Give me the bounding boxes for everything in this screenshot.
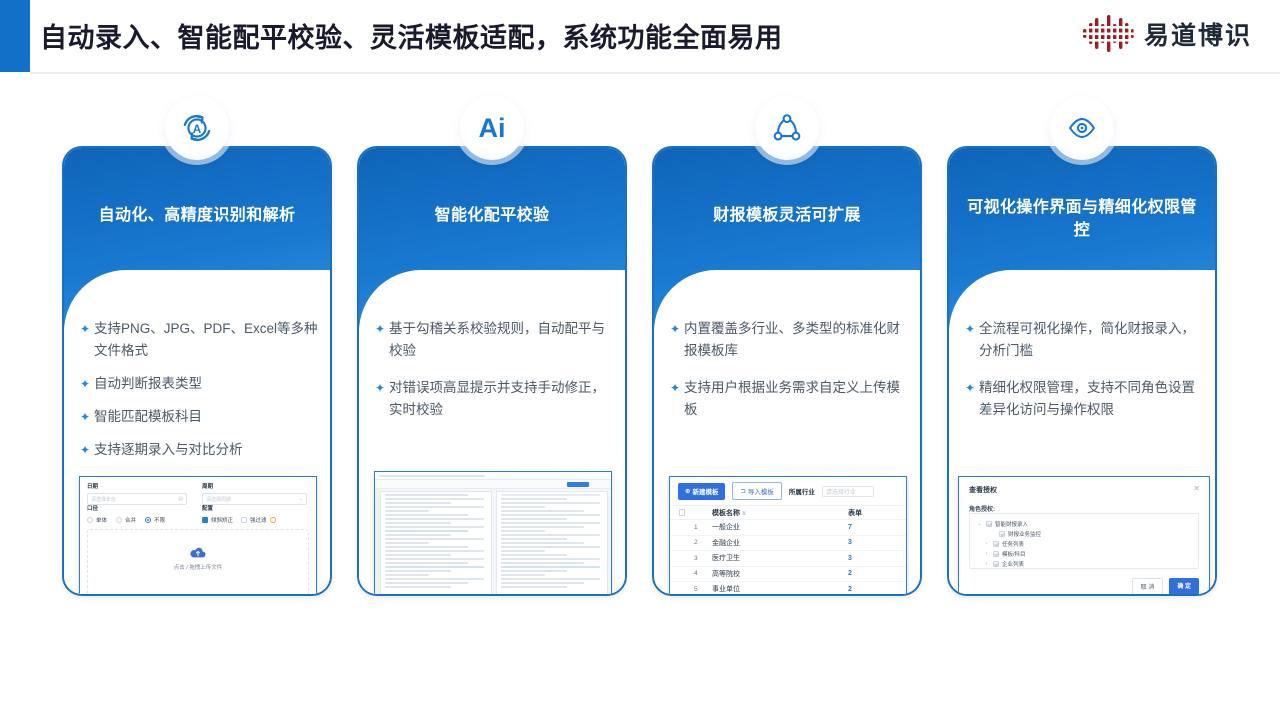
bullet-diamond-icon: ✦ xyxy=(670,318,684,340)
date-field-label: 日期 xyxy=(87,482,187,490)
template-table-screenshot[interactable]: ⊕ 新建模板 ⊐ 导入模板 所属行业 请选择行业 xyxy=(669,476,907,594)
list-item: ✦ 支持逐期录入与对比分析 xyxy=(80,439,318,461)
header-accent-bar xyxy=(0,0,30,72)
column-header-name[interactable]: 模板名称 ⇅ xyxy=(712,508,848,518)
caliber-label: 口径 xyxy=(87,504,165,512)
bullet-diamond-icon: ✦ xyxy=(965,318,979,340)
radio-single-label: 单体 xyxy=(96,516,107,524)
card-body: ✦ 基于勾稽关系校验规则，自动配平与校验 ✦ 对错误项高显提示并支持手动修正，实… xyxy=(359,270,625,594)
bullet-text: 支持逐期录入与对比分析 xyxy=(94,439,243,461)
date-input-placeholder: 请选择年份 xyxy=(91,496,116,503)
column-header-forms: 表单 xyxy=(848,508,906,518)
row-form-count[interactable]: 7 xyxy=(848,524,906,531)
ai-icon: Ai xyxy=(460,96,524,160)
list-item: ✦ 智能匹配模板科目 xyxy=(80,406,318,428)
radio-any[interactable] xyxy=(145,517,151,523)
list-item: ✦ 全流程可视化操作，简化财报录入，分析门槛 xyxy=(965,318,1203,362)
permission-tree[interactable]: ⌄ 智能财报录入 财报业务监控 › xyxy=(969,513,1199,569)
permission-dialog-screenshot[interactable]: 查看授权 ✕ 角色授权: ⌄ 智能财报录入 xyxy=(958,476,1210,594)
bullet-list: ✦ 全流程可视化操作，简化财报录入，分析门槛 ✦ 精细化权限管理，支持不同角色设… xyxy=(965,318,1203,432)
dropzone-label: 点击 / 拖拽上传文件 xyxy=(174,563,223,571)
document-compare-screenshot[interactable] xyxy=(374,471,612,594)
checkbox-strongfilter[interactable] xyxy=(241,517,247,523)
auto-refresh-a-icon: A xyxy=(165,96,229,160)
table-row[interactable]: 2 金融企业 3 xyxy=(670,536,906,552)
bullet-text: 精细化权限管理，支持不同角色设置差异化访问与操作权限 xyxy=(979,377,1203,421)
row-index: 5 xyxy=(694,586,712,593)
confirm-button[interactable]: 确 定 xyxy=(1169,578,1199,594)
chevron-right-icon[interactable]: › xyxy=(983,561,990,567)
tree-checkbox[interactable] xyxy=(986,521,992,527)
radio-merged[interactable] xyxy=(116,517,122,523)
config-label: 配置 xyxy=(202,504,276,512)
file-dropzone[interactable]: 点击 / 拖拽上传文件 xyxy=(87,529,309,594)
select-all-checkbox[interactable] xyxy=(679,509,686,516)
bullet-diamond-icon: ✦ xyxy=(80,406,94,428)
compare-toolbar xyxy=(375,480,611,489)
bullet-list: ✦ 基于勾稽关系校验规则，自动配平与校验 ✦ 对错误项高显提示并支持手动修正，实… xyxy=(375,318,613,432)
warning-icon xyxy=(270,517,276,523)
dialog-actions: 取 消 确 定 xyxy=(1132,578,1199,594)
dialog-title: 查看授权 xyxy=(969,485,997,495)
list-item: ✦ 内置覆盖多行业、多类型的标准化财报模板库 xyxy=(670,318,908,362)
import-icon: ⊐ xyxy=(740,487,745,495)
list-item: ✦ 支持用户根据业务需求自定义上传模板 xyxy=(670,377,908,421)
industry-filter-select[interactable]: 请选择行业 xyxy=(822,486,874,497)
bullet-diamond-icon: ✦ xyxy=(80,373,94,395)
feature-card-balancing[interactable]: 智能化配平校验 ✦ 基于勾稽关系校验规则，自动配平与校验 ✦ 对错误项高显提示并… xyxy=(357,146,627,596)
industry-filter-label: 所属行业 xyxy=(789,486,815,496)
header-divider xyxy=(30,72,1280,74)
cancel-button[interactable]: 取 消 xyxy=(1132,578,1164,594)
bullet-text: 内置覆盖多行业、多类型的标准化财报模板库 xyxy=(684,318,908,362)
checkbox-deskew-label: 倾斜矫正 xyxy=(211,516,233,524)
feature-cards: 自动化、高精度识别和解析 ✦ 支持PNG、JPG、PDF、Excel等多种文件格… xyxy=(0,96,1280,636)
bullet-text: 自动判断报表类型 xyxy=(94,373,202,395)
bullet-text: 全流程可视化操作，简化财报录入，分析门槛 xyxy=(979,318,1203,362)
table-header-row: 模板名称 ⇅ 表单 xyxy=(670,505,906,520)
tree-node-label: 企业列表 xyxy=(1002,560,1024,568)
checkbox-strongfilter-label: 强过滤 xyxy=(250,516,267,524)
row-template-name: 金融企业 xyxy=(712,538,848,548)
table-row[interactable]: 1 一般企业 7 xyxy=(670,520,906,536)
row-index: 3 xyxy=(694,555,712,562)
bullet-text: 支持PNG、JPG、PDF、Excel等多种文件格式 xyxy=(94,318,318,362)
table-toolbar: ⊕ 新建模板 ⊐ 导入模板 所属行业 请选择行业 xyxy=(670,477,906,505)
tree-node[interactable]: › 模板/科目 xyxy=(970,549,1198,559)
chevron-right-icon[interactable]: › xyxy=(983,541,990,547)
logo-wave-icon xyxy=(1082,14,1134,54)
card-title: 自动化、高精度识别和解析 xyxy=(78,204,316,227)
bullet-list: ✦ 内置覆盖多行业、多类型的标准化财报模板库 ✦ 支持用户根据业务需求自定义上传… xyxy=(670,318,908,432)
row-template-name: 事业单位 xyxy=(712,584,848,594)
bullet-diamond-icon: ✦ xyxy=(965,377,979,399)
bullet-diamond-icon: ✦ xyxy=(375,318,389,340)
logo-text: 易道博识 xyxy=(1144,16,1252,52)
config-group: 配置 倾斜矫正 强过滤 xyxy=(202,504,276,524)
import-template-button[interactable]: ⊐ 导入模板 xyxy=(732,482,781,500)
table-row[interactable]: 4 高等院校 2 xyxy=(670,567,906,583)
page-title: 自动录入、智能配平校验、灵活模板适配，系统功能全面易用 xyxy=(40,16,783,55)
card-body: ✦ 全流程可视化操作，简化财报录入，分析门槛 ✦ 精细化权限管理，支持不同角色设… xyxy=(949,270,1215,594)
list-item: ✦ 精细化权限管理，支持不同角色设置差异化访问与操作权限 xyxy=(965,377,1203,421)
table-row[interactable]: 5 事业单位 2 xyxy=(670,582,906,594)
radio-single[interactable] xyxy=(87,517,93,523)
compare-menubar xyxy=(375,472,611,480)
row-form-count[interactable]: 2 xyxy=(848,570,906,577)
list-item: ✦ 支持PNG、JPG、PDF、Excel等多种文件格式 xyxy=(80,318,318,362)
tree-node[interactable]: ⌄ 智能财报录入 xyxy=(970,519,1198,529)
brand-logo: 易道博识 xyxy=(1082,14,1252,54)
bullet-text: 基于勾稽关系校验规则，自动配平与校验 xyxy=(389,318,613,362)
structured-table-pane[interactable] xyxy=(496,491,608,594)
share-nodes-icon xyxy=(755,96,819,160)
period-select-placeholder: 请选择周期 xyxy=(206,496,231,503)
row-template-name: 高等院校 xyxy=(712,569,848,579)
upload-form-screenshot[interactable]: 日期 请选择年份 ▤ 周期 请选择周期 ⌄ 口 xyxy=(79,476,317,594)
feature-card-permissions[interactable]: 可视化操作界面与精细化权限管控 ✦ 全流程可视化操作，简化财报录入，分析门槛 ✦… xyxy=(947,146,1217,596)
table-row[interactable]: 3 医疗卫生 3 xyxy=(670,551,906,567)
tree-checkbox[interactable] xyxy=(993,551,999,557)
chevron-right-icon[interactable]: › xyxy=(983,551,990,557)
date-field-group: 日期 请选择年份 ▤ xyxy=(87,482,187,505)
period-field-group: 周期 请选择周期 ⌄ xyxy=(202,482,307,505)
tree-node[interactable]: 财报业务监控 xyxy=(970,529,1198,539)
card-body: ✦ 支持PNG、JPG、PDF、Excel等多种文件格式 ✦ 自动判断报表类型 … xyxy=(64,270,330,594)
tree-node-label: 财报业务监控 xyxy=(1008,530,1041,538)
sort-icon: ⇅ xyxy=(742,511,746,517)
page-header: 自动录入、智能配平校验、灵活模板适配，系统功能全面易用 易道博识 xyxy=(0,0,1280,74)
plus-circle-icon: ⊕ xyxy=(685,487,690,495)
source-document-pane[interactable] xyxy=(380,491,492,594)
new-template-button[interactable]: ⊕ 新建模板 xyxy=(678,483,725,500)
svg-text:A: A xyxy=(193,123,202,136)
chevron-down-icon[interactable]: ⌄ xyxy=(976,521,983,527)
caliber-radios[interactable]: 单体 合并 不限 xyxy=(87,516,165,524)
bullet-list: ✦ 支持PNG、JPG、PDF、Excel等多种文件格式 ✦ 自动判断报表类型 … xyxy=(80,318,318,472)
tree-node[interactable]: › 任务列表 xyxy=(970,539,1198,549)
tree-node-label: 智能财报录入 xyxy=(995,520,1028,528)
row-index: 1 xyxy=(694,524,712,531)
radio-any-label: 不限 xyxy=(154,516,165,524)
list-item: ✦ 基于勾稽关系校验规则，自动配平与校验 xyxy=(375,318,613,362)
radio-merged-label: 合并 xyxy=(125,516,136,524)
bullet-diamond-icon: ✦ xyxy=(80,318,94,340)
row-template-name: 医疗卫生 xyxy=(712,553,848,563)
tree-node-label: 任务列表 xyxy=(1002,540,1024,548)
industry-filter-placeholder: 请选择行业 xyxy=(826,487,856,496)
row-index: 4 xyxy=(694,570,712,577)
bullet-diamond-icon: ✦ xyxy=(80,439,94,461)
row-form-count[interactable]: 3 xyxy=(848,539,906,546)
eye-icon xyxy=(1050,96,1114,160)
feature-card-automation[interactable]: 自动化、高精度识别和解析 ✦ 支持PNG、JPG、PDF、Excel等多种文件格… xyxy=(62,146,332,596)
bullet-text: 对错误项高显提示并支持手动修正，实时校验 xyxy=(389,377,613,421)
tree-node-label: 模板/科目 xyxy=(1002,550,1026,558)
checkbox-deskew[interactable] xyxy=(202,517,208,523)
row-form-count[interactable]: 2 xyxy=(848,586,906,593)
card-title: 智能化配平校验 xyxy=(373,204,611,227)
ai-glyph-text: Ai xyxy=(479,113,506,144)
list-item: ✦ 对错误项高显提示并支持手动修正，实时校验 xyxy=(375,377,613,421)
caliber-group: 口径 单体 合并 不限 xyxy=(87,504,165,524)
bullet-text: 智能匹配模板科目 xyxy=(94,406,202,428)
card-title: 财报模板灵活可扩展 xyxy=(668,204,906,227)
new-template-label: 新建模板 xyxy=(692,486,718,496)
bullet-text: 支持用户根据业务需求自定义上传模板 xyxy=(684,377,908,421)
tree-node[interactable]: › 企业列表 xyxy=(970,559,1198,569)
close-icon[interactable]: ✕ xyxy=(1193,484,1200,493)
config-checkboxes[interactable]: 倾斜矫正 强过滤 xyxy=(202,516,276,524)
feature-card-templates[interactable]: 财报模板灵活可扩展 ✦ 内置覆盖多行业、多类型的标准化财报模板库 ✦ 支持用户根… xyxy=(652,146,922,596)
import-template-label: 导入模板 xyxy=(748,486,774,496)
period-field-label: 周期 xyxy=(202,482,307,490)
tree-checkbox[interactable] xyxy=(993,561,999,567)
row-form-count[interactable]: 3 xyxy=(848,555,906,562)
bullet-diamond-icon: ✦ xyxy=(375,377,389,399)
tree-checkbox[interactable] xyxy=(999,531,1005,537)
card-title: 可视化操作界面与精细化权限管控 xyxy=(963,196,1201,242)
list-item: ✦ 自动判断报表类型 xyxy=(80,373,318,395)
cloud-upload-icon xyxy=(190,546,206,558)
card-body: ✦ 内置覆盖多行业、多类型的标准化财报模板库 ✦ 支持用户根据业务需求自定义上传… xyxy=(654,270,920,594)
calendar-icon: ▤ xyxy=(178,496,183,502)
chevron-down-icon: ⌄ xyxy=(299,496,303,502)
role-auth-label: 角色授权: xyxy=(969,504,995,513)
bullet-diamond-icon: ✦ xyxy=(670,377,684,399)
compare-action-button[interactable] xyxy=(567,482,589,487)
row-index: 2 xyxy=(694,539,712,546)
row-template-name: 一般企业 xyxy=(712,522,848,532)
tree-checkbox[interactable] xyxy=(993,541,999,547)
